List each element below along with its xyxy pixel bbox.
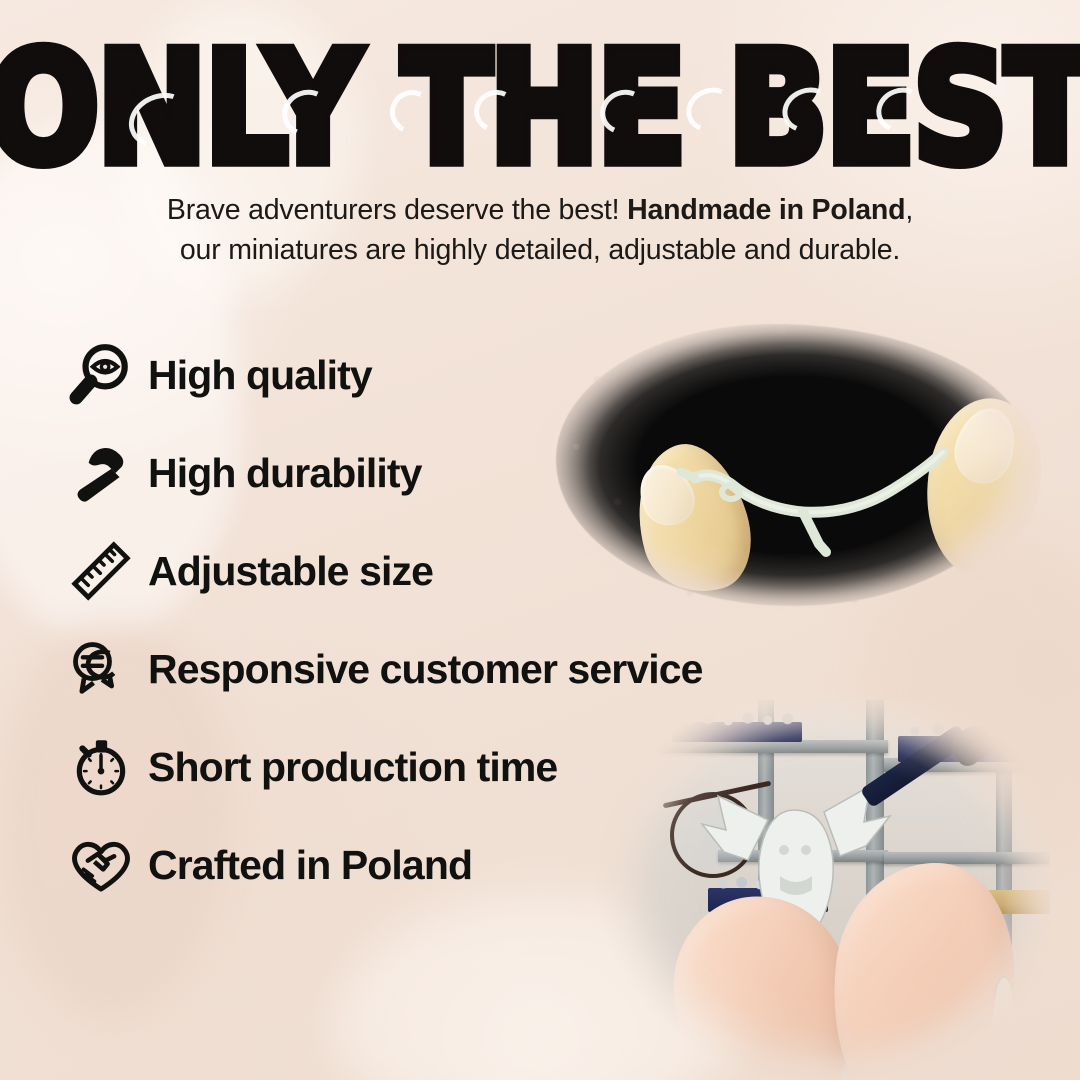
feature-item-production-time: Short production time [62, 718, 782, 816]
headline: ONLY THE BEST [0, 32, 1080, 172]
feature-item-crafted-in-poland: Crafted in Poland [62, 816, 782, 914]
ruler-icon [62, 534, 140, 608]
promo-graphic: ONLY THE BEST Brave adventurers deserve … [0, 0, 1080, 1080]
subtitle-tail: , [905, 194, 913, 226]
feature-label: Crafted in Poland [148, 842, 472, 889]
subtitle: Brave adventurers deserve the best! Hand… [60, 190, 1020, 271]
feature-item-high-quality: High quality [62, 326, 782, 424]
headline-text: ONLY THE BEST [0, 32, 1080, 186]
feature-label: High durability [148, 450, 422, 497]
subtitle-lead: Brave adventurers deserve the best! [167, 194, 627, 226]
magnifier-eye-icon [62, 338, 140, 412]
handshake-heart-icon [62, 828, 140, 902]
feature-item-adjustable-size: Adjustable size [62, 522, 782, 620]
feature-label: Responsive customer service [148, 646, 703, 693]
subtitle-bold: Handmade in Poland [627, 194, 905, 226]
feature-item-high-durability: High durability [62, 424, 782, 522]
hammer-icon [62, 436, 140, 510]
feature-item-customer-service: Responsive customer service [62, 620, 782, 718]
chat-bubbles-icon [62, 632, 140, 706]
stopwatch-icon [62, 730, 140, 804]
feature-label: Adjustable size [148, 548, 433, 595]
feature-label: Short production time [148, 744, 557, 791]
feature-label: High quality [148, 352, 372, 399]
feature-list: High quality High durability [62, 326, 782, 914]
subtitle-line2: our miniatures are highly detailed, adju… [180, 234, 900, 266]
